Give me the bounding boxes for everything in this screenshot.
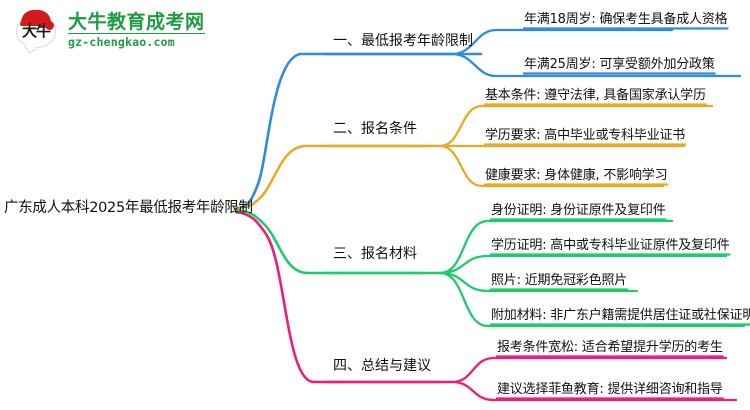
- logo-text-block: 大牛教育成考网 gz-chengkao.com: [68, 11, 205, 49]
- leaf-2-2[interactable]: 学历要求: 高中毕业或专科毕业证书: [485, 124, 685, 143]
- leaf-2-3[interactable]: 健康要求: 身体健康, 不影响学习: [485, 164, 667, 183]
- leaf-3-4[interactable]: 附加材料: 非广东户籍需提供居住证或社保证明: [491, 304, 750, 323]
- branch-label-3[interactable]: 三、报名材料: [333, 243, 417, 263]
- root-to-branch2-curve: [236, 146, 440, 208]
- leaf-2-1[interactable]: 基本条件: 遵守法律, 具备国家承认学历: [485, 84, 706, 103]
- leaf-4-1[interactable]: 报考条件宽松: 适合希望提升学历的考生: [497, 336, 723, 355]
- brand-name: 大牛教育成考网: [68, 11, 205, 33]
- branch-label-2[interactable]: 二、报名条件: [333, 118, 417, 138]
- brand-url: gz-chengkao.com: [68, 33, 205, 49]
- leaf-3-2[interactable]: 学历证明: 高中或专科毕业证原件及复印件: [491, 234, 730, 253]
- red-dot-icon: [45, 21, 54, 30]
- branch-label-1[interactable]: 一、最低报考年龄限制: [333, 30, 473, 50]
- leaf-3-3[interactable]: 照片: 近期免冠彩色照片: [491, 269, 627, 288]
- root-to-branch3-curve: [236, 210, 440, 273]
- branch1-fork-upper: [452, 30, 672, 54]
- leaf-1-1[interactable]: 年满18周岁: 确保考生具备成人资格: [524, 8, 727, 27]
- branch-label-4[interactable]: 四、总结与建议: [333, 355, 431, 375]
- logo-mark-icon: 大牛: [14, 8, 60, 52]
- mindmap-root-label: 广东成人本科2025年最低报考年龄限制: [4, 196, 236, 217]
- site-logo: 大牛 大牛教育成考网 gz-chengkao.com: [14, 6, 244, 54]
- leaf-4-2[interactable]: 建议选择菲鱼教育: 提供详细咨询和指导: [497, 378, 723, 397]
- mindmap-page: 大牛 大牛教育成考网 gz-chengkao.com 广东成人本科2025年最低…: [0, 0, 750, 410]
- leaf-1-2[interactable]: 年满25周岁: 可享受额外加分政策: [524, 53, 715, 72]
- leaf-3-1[interactable]: 身份证明: 身份证原件及复印件: [491, 199, 666, 218]
